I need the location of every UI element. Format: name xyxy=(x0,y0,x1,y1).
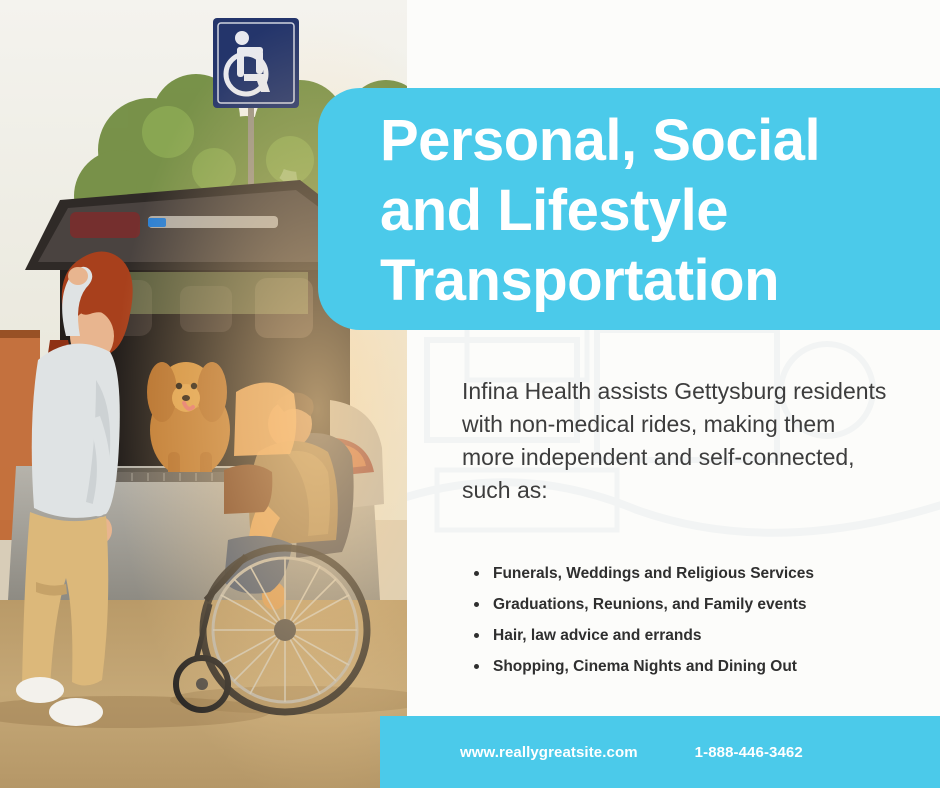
flyer-poster: Personal, Social and Lifestyle Transport… xyxy=(0,0,940,788)
headline-banner: Personal, Social and Lifestyle Transport… xyxy=(318,88,940,330)
list-item: Shopping, Cinema Nights and Dining Out xyxy=(470,657,890,676)
footer-bar: www.reallygreatsite.com 1-888-446-3462 xyxy=(380,716,940,788)
services-list: Funerals, Weddings and Religious Service… xyxy=(470,564,890,688)
list-item: Graduations, Reunions, and Family events xyxy=(470,595,890,614)
phone-number[interactable]: 1-888-446-3462 xyxy=(695,744,803,761)
intro-paragraph: Infina Health assists Gettysburg residen… xyxy=(462,375,892,507)
list-item: Hair, law advice and errands xyxy=(470,626,890,645)
page-title: Personal, Social and Lifestyle Transport… xyxy=(380,106,904,316)
list-item: Funerals, Weddings and Religious Service… xyxy=(470,564,890,583)
website-link[interactable]: www.reallygreatsite.com xyxy=(460,744,638,761)
